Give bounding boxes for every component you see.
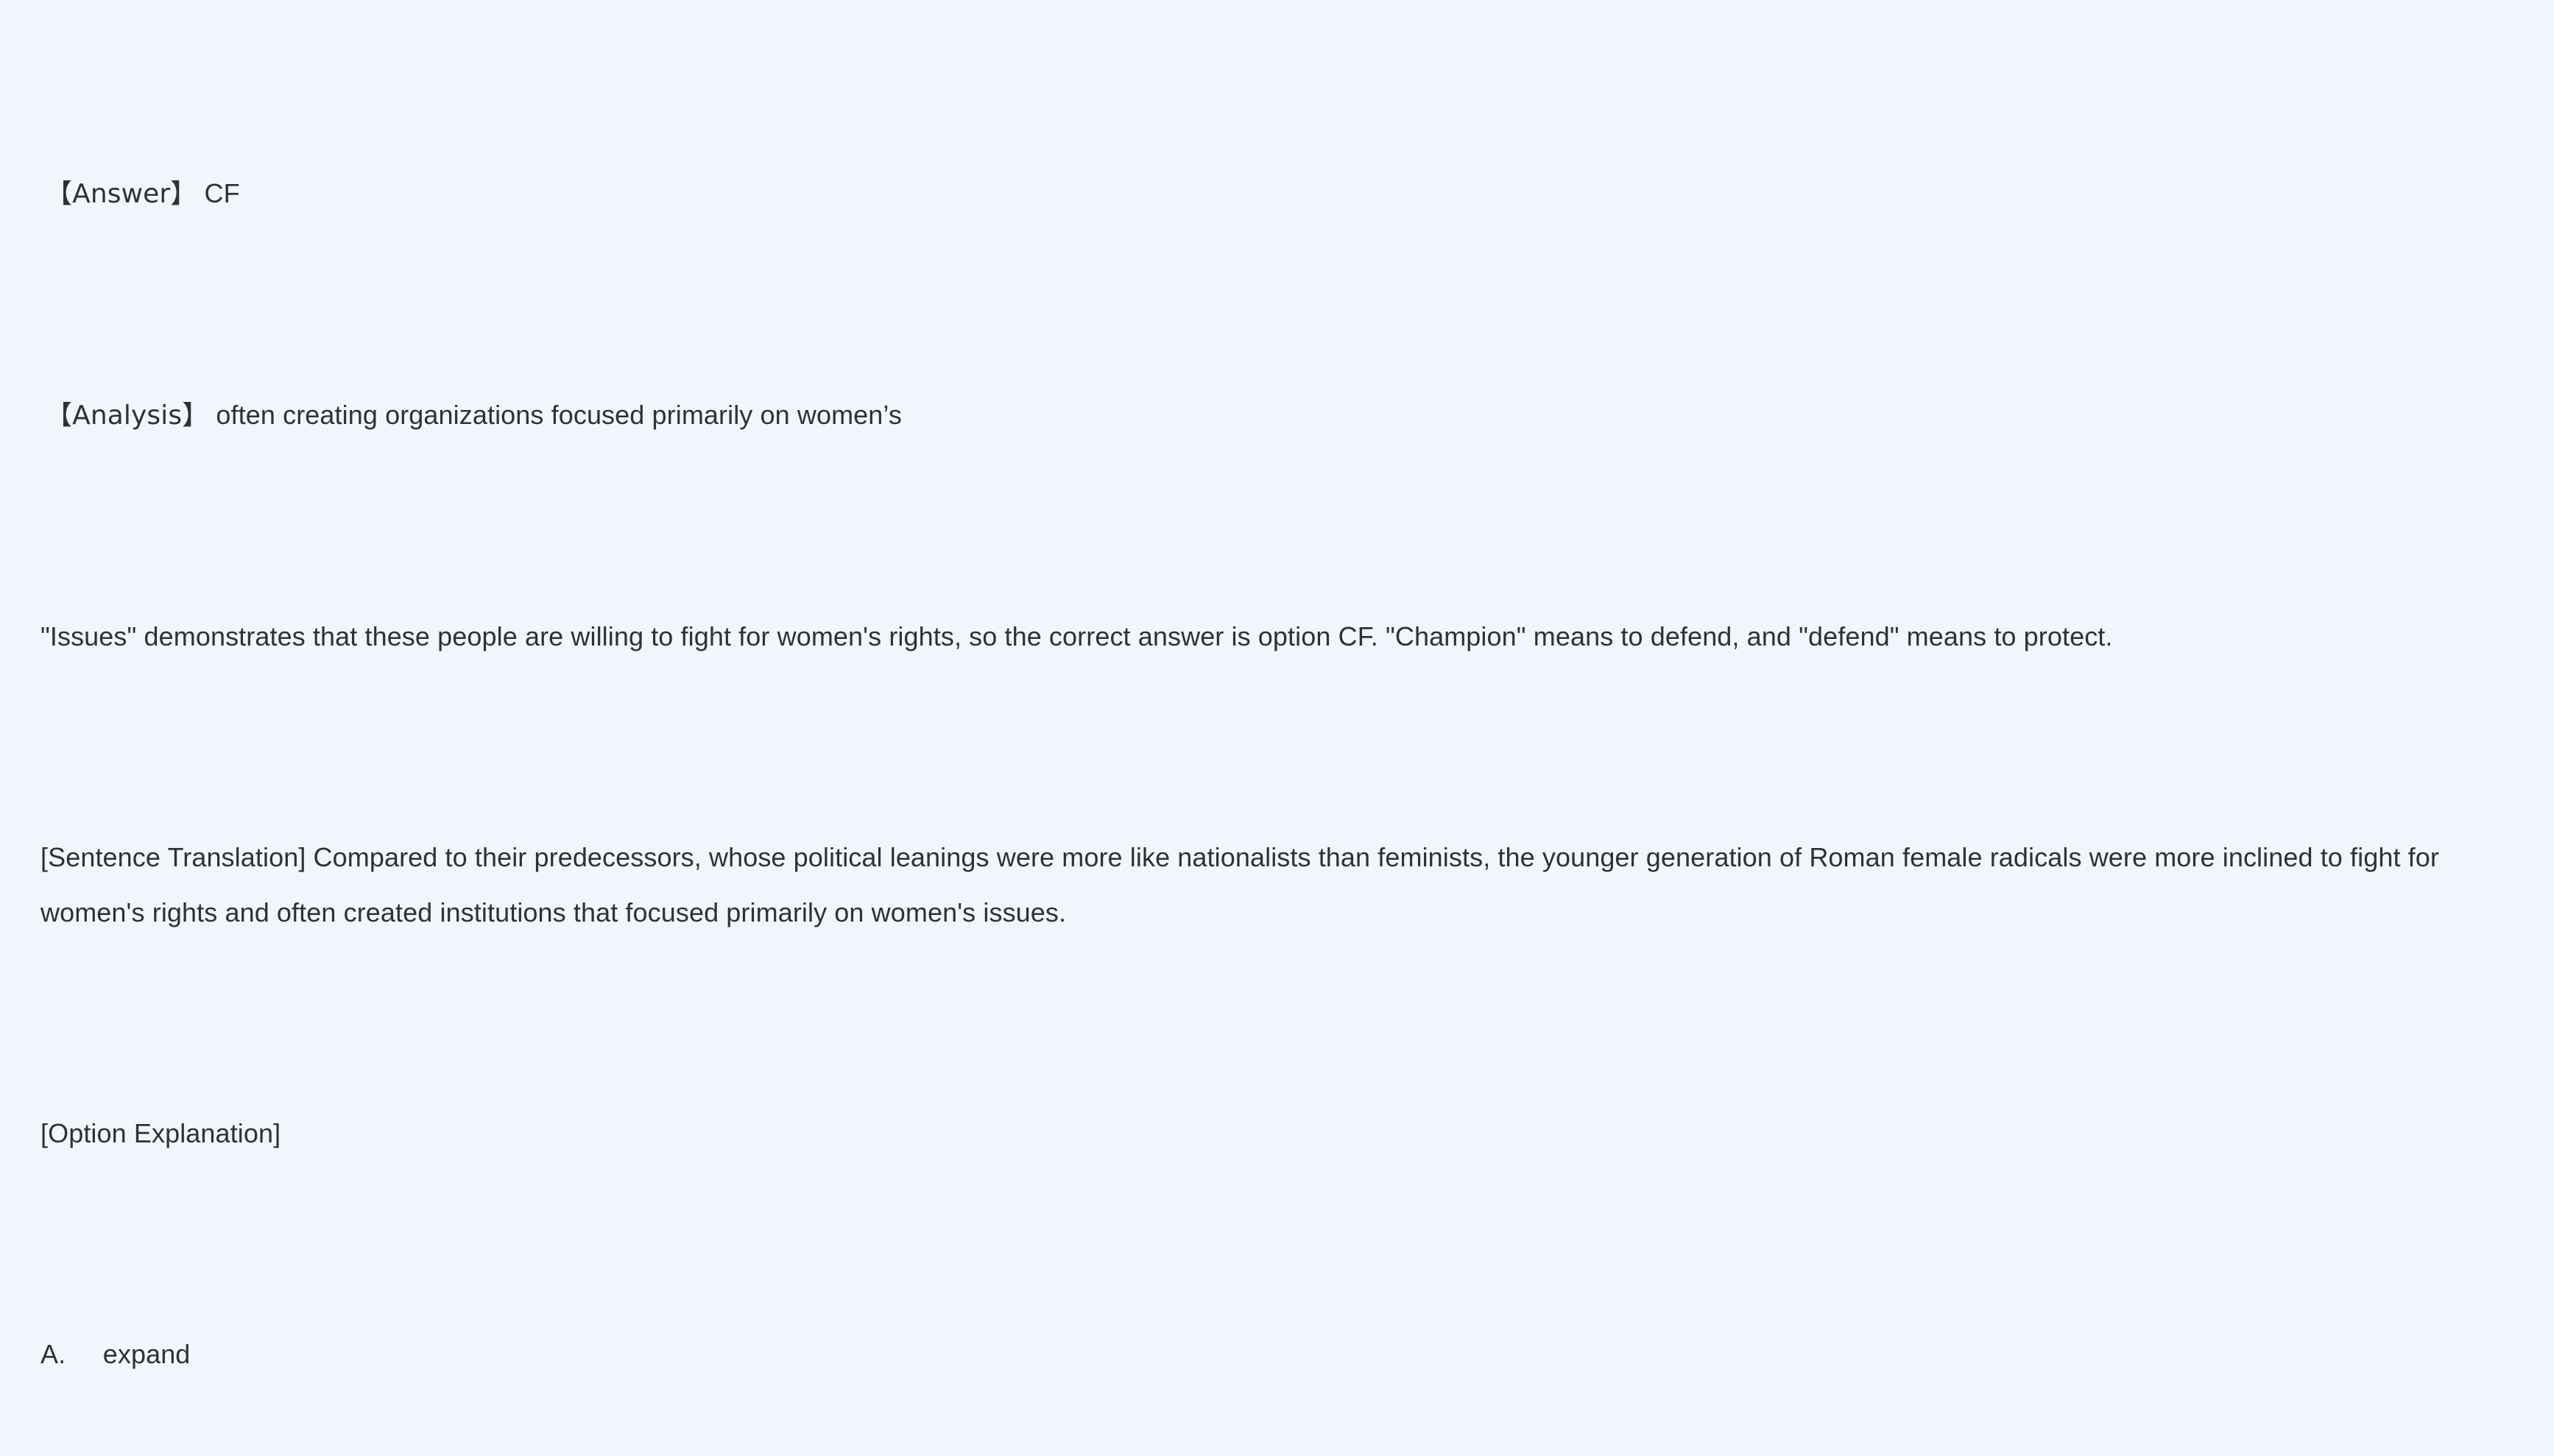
- analysis-paragraph: "Issues" demonstrates that these people …: [40, 609, 2470, 664]
- sentence-translation-label: [Sentence Translation]: [40, 842, 306, 872]
- sentence-translation-paragraph: [Sentence Translation] Compared to their…: [40, 830, 2470, 940]
- answer-explanation-page: 【Answer】 CF 【Analysis】 often creating or…: [0, 0, 2554, 728]
- answer-line: 【Answer】 CF: [40, 166, 2554, 222]
- answer-value: CF: [197, 178, 239, 208]
- answer-label: 【Answer】: [46, 179, 197, 209]
- analysis-label: 【Analysis】: [46, 400, 208, 431]
- analysis-first-line-text: often creating organizations focused pri…: [208, 400, 902, 430]
- analysis-line: 【Analysis】 often creating organizations …: [40, 387, 2554, 443]
- option-item-a: A. expand: [40, 1326, 2554, 1382]
- sentence-translation-text: Compared to their predecessors, whose po…: [40, 842, 2447, 927]
- option-explanation-label: [Option Explanation]: [40, 1106, 2554, 1161]
- answer-explanation-body: 【Answer】 CF 【Analysis】 often creating or…: [40, 0, 2554, 1456]
